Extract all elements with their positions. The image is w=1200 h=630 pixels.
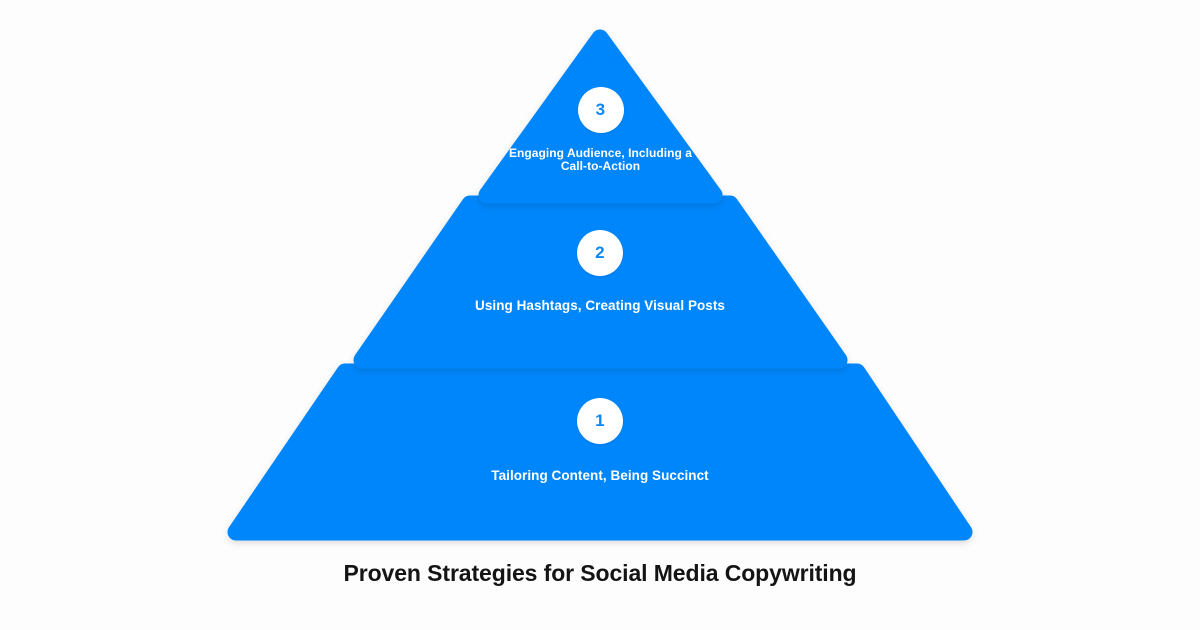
pyramid-tier-3-shape[interactable] — [0, 0, 1200, 548]
chart-title: Proven Strategies for Social Media Copyw… — [0, 560, 1200, 587]
pyramid-infographic: 3 Engaging Audience, Including a Call-to… — [0, 0, 1200, 630]
pyramid-chart: 3 Engaging Audience, Including a Call-to… — [0, 0, 1200, 548]
